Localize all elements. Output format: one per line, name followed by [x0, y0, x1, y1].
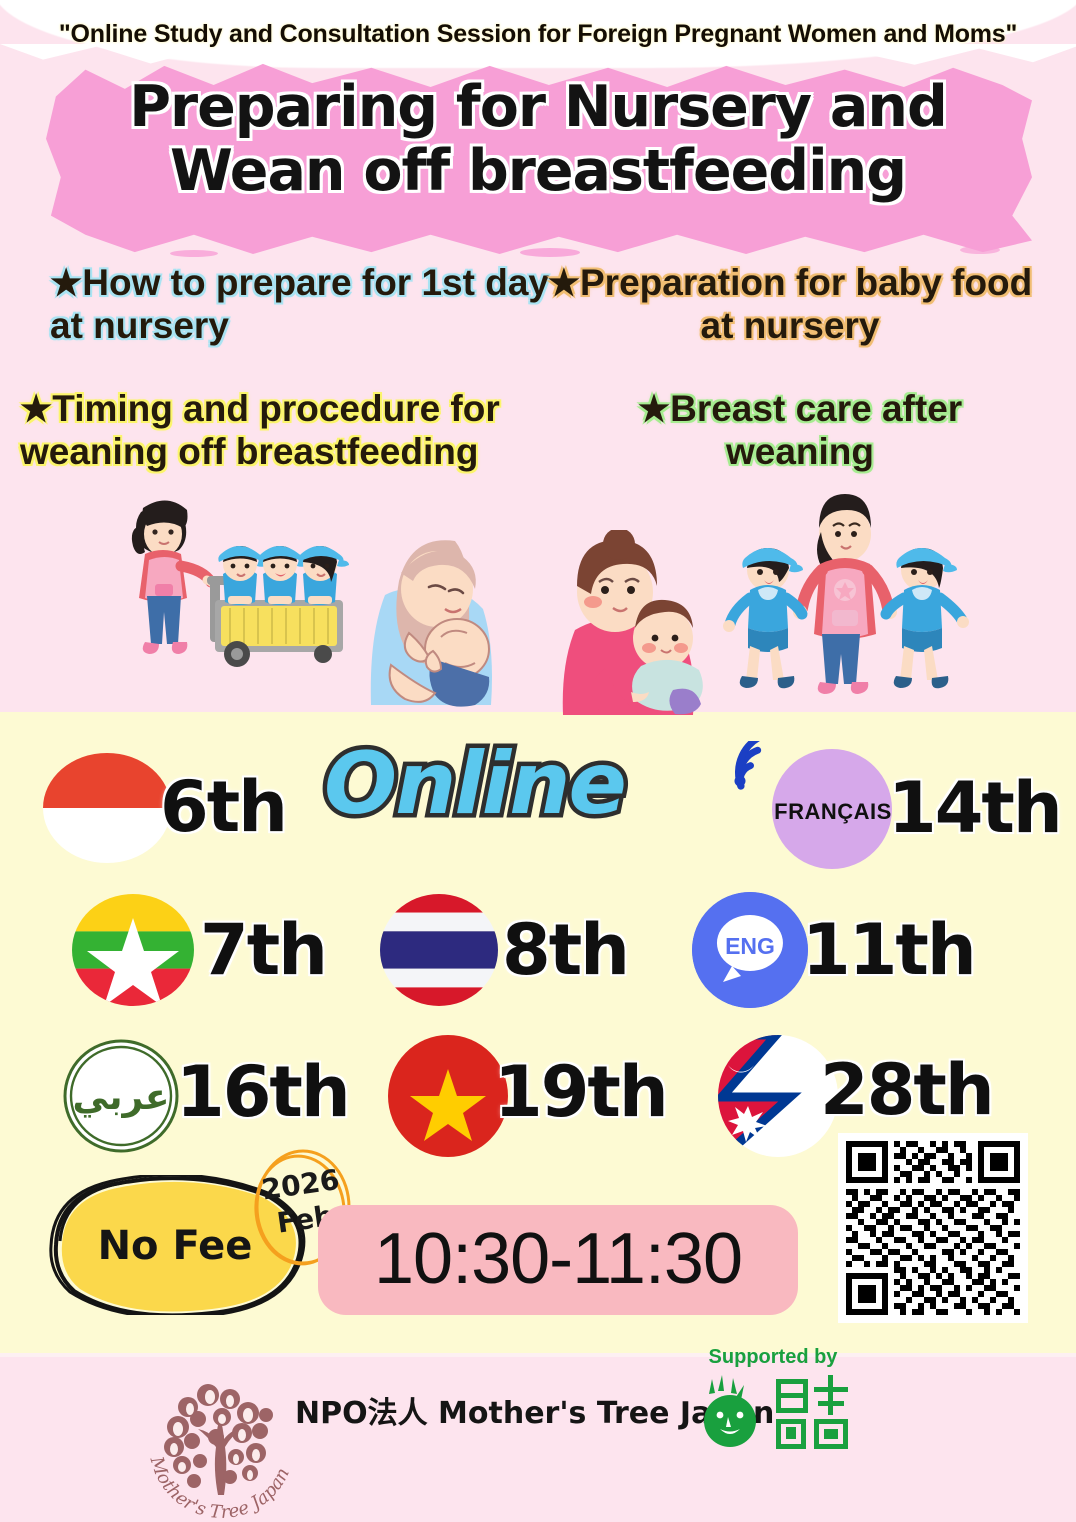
- title-line-1: Preparing for Nursery and: [129, 74, 947, 140]
- poster-footer: Mother's Tree Japan NPO法人 Mother's Tree …: [0, 1357, 1076, 1522]
- star-icon: ★: [20, 388, 52, 429]
- badge-arabic-label: عربي: [73, 1077, 170, 1118]
- nippon-foundation-logo: [700, 1373, 860, 1453]
- topic-item-1-label: How to prepare for 1st day at nursery: [50, 262, 549, 346]
- badge-eng: ENG: [692, 892, 808, 1008]
- qr-code[interactable]: [838, 1133, 1028, 1323]
- flag-vietnam: [388, 1035, 508, 1157]
- illustration-nursery-cart: [95, 488, 355, 703]
- illustration-row: [0, 480, 1076, 712]
- title-line-2: Wean off breastfeeding: [0, 140, 1076, 204]
- brush-spatter: [170, 250, 218, 257]
- poster-title: Preparing for Nursery and Wean off breas…: [0, 76, 1076, 204]
- session-date-arabic: 16th: [176, 1057, 349, 1127]
- session-date-english: 11th: [802, 915, 975, 985]
- badge-eng-label: ENG: [725, 933, 775, 959]
- topic-item-3-label: Timing and procedure for weaning off bre…: [20, 388, 500, 472]
- flag-thailand: [380, 894, 498, 1006]
- flag-indonesia: [43, 753, 171, 863]
- topic-item-2-label: Preparation for baby food at nursery: [580, 262, 1032, 346]
- supported-by-label: Supported by: [708, 1346, 838, 1369]
- brush-spatter: [960, 246, 1000, 254]
- star-icon: ★: [638, 388, 670, 429]
- time-label: 10:30-11:30: [318, 1218, 798, 1300]
- session-date-nepali: 28th: [820, 1055, 993, 1125]
- topic-item-4: ★Breast care after weaning: [570, 388, 1030, 474]
- session-schedule: 6th FRANÇAIS 14th 7th 8th: [0, 737, 1076, 1137]
- poster-subtitle: "Online Study and Consultation Session f…: [0, 20, 1076, 49]
- badge-arabic: عربي: [60, 1037, 182, 1155]
- star-icon: ★: [50, 262, 82, 303]
- poster-root: "Online Study and Consultation Session f…: [0, 0, 1076, 1522]
- topic-list: ★How to prepare for 1st day at nursery ★…: [0, 262, 1076, 492]
- illustration-mother-baby: [545, 530, 720, 715]
- topic-item-1: ★How to prepare for 1st day at nursery: [50, 262, 550, 348]
- topic-item-4-label: Breast care after weaning: [670, 388, 962, 472]
- illustration-teacher-kids: [720, 486, 970, 706]
- session-date-burmese: 7th: [200, 915, 326, 985]
- topic-item-2: ★Preparation for baby food at nursery: [530, 262, 1050, 348]
- session-date-vietnamese: 19th: [494, 1057, 667, 1127]
- badge-francais-label: FRANÇAIS: [772, 799, 894, 825]
- brush-spatter: [520, 248, 580, 257]
- star-icon: ★: [548, 262, 580, 303]
- session-date-french: 14th: [888, 773, 1061, 843]
- session-date-indonesian: 6th: [160, 772, 286, 842]
- topic-item-3: ★Timing and procedure for weaning off br…: [20, 388, 580, 474]
- illustration-breastfeeding: [345, 525, 525, 715]
- session-date-thai: 8th: [502, 915, 628, 985]
- flag-myanmar: [72, 894, 194, 1006]
- mothers-tree-japan-logo: Mother's Tree Japan: [130, 1369, 310, 1519]
- qr-code-image: [846, 1141, 1020, 1315]
